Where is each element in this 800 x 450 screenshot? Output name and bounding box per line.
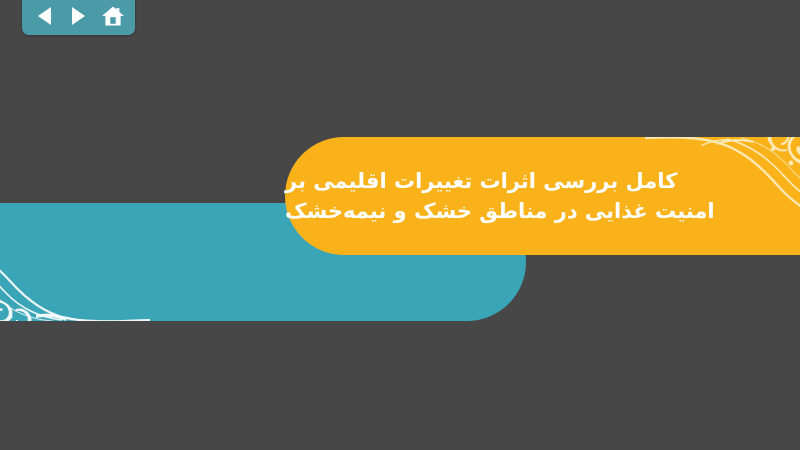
home-button[interactable] [100, 4, 126, 28]
teal-panel-arabesque-ornament [0, 203, 150, 321]
yellow-panel-arabesque-ornament [645, 137, 800, 255]
navigation-bar [22, 0, 135, 35]
back-arrow-icon [38, 7, 51, 25]
forward-button[interactable] [66, 4, 92, 28]
slide-viewer: کامل بررسی اثرات تغییرات اقلیمی بر امنیت… [0, 0, 800, 450]
yellow-title-panel [285, 137, 800, 255]
back-button[interactable] [31, 4, 57, 28]
home-icon [101, 5, 125, 27]
forward-arrow-icon [72, 7, 85, 25]
